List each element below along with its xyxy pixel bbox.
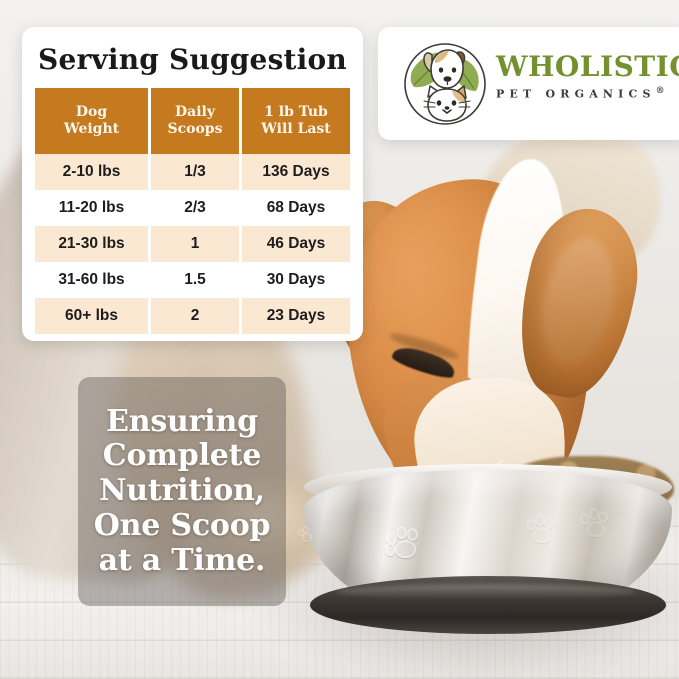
table-header-row: Dog Weight Daily Scoops 1 lb Tub Will La…: [35, 88, 350, 154]
cell-tub-will-last: 68 Days: [242, 190, 350, 226]
cell-dog-weight: 31-60 lbs: [35, 262, 148, 298]
serving-suggestion-card: Serving Suggestion Dog Weight Daily Scoo…: [22, 27, 363, 341]
brand-subtitle: PET ORGANICS®: [496, 86, 676, 101]
cell-daily-scoops: 2: [151, 298, 239, 334]
dog-cat-circle-leaves-icon: [402, 41, 488, 127]
column-header-tub-will-last: 1 lb Tub Will Last: [242, 88, 350, 154]
table-row: 2-10 lbs 1/3 136 Days: [35, 154, 350, 190]
paw-print-icon: [578, 508, 608, 538]
brand-wordmark-text: WHOLISTIC: [496, 50, 679, 83]
brand-subtitle-text: PET ORGANICS: [496, 88, 656, 101]
cell-tub-will-last: 30 Days: [242, 262, 350, 298]
cell-dog-weight: 2-10 lbs: [35, 154, 148, 190]
cell-dog-weight: 11-20 lbs: [35, 190, 148, 226]
cell-tub-will-last: 46 Days: [242, 226, 350, 262]
bowl-base-highlight: [336, 584, 636, 600]
cell-dog-weight: 21-30 lbs: [35, 226, 148, 262]
screenshot-canvas: Serving Suggestion Dog Weight Daily Scoo…: [0, 0, 679, 679]
header-line: Dog: [76, 104, 107, 120]
header-line: Will Last: [261, 121, 331, 137]
paw-print-icon: [524, 514, 554, 544]
cell-daily-scoops: 2/3: [151, 190, 239, 226]
column-header-dog-weight: Dog Weight: [35, 88, 148, 154]
cell-daily-scoops: 1/3: [151, 154, 239, 190]
table-row: 21-30 lbs 1 46 Days: [35, 226, 350, 262]
serving-suggestion-table: Dog Weight Daily Scoops 1 lb Tub Will La…: [32, 88, 353, 334]
brand-wordmark: WHOLISTIC: [496, 53, 676, 81]
cell-daily-scoops: 1.5: [151, 262, 239, 298]
registered-trademark-icon: ®: [656, 86, 665, 96]
cell-tub-will-last: 136 Days: [242, 154, 350, 190]
table-row: 60+ lbs 2 23 Days: [35, 298, 350, 334]
tagline-text: Ensuring Complete Nutrition, One Scoop a…: [88, 405, 277, 579]
page-title: Serving Suggestion: [22, 43, 363, 76]
header-line: Scoops: [168, 121, 223, 137]
header-line: Weight: [64, 121, 119, 137]
header-line: 1 lb Tub: [264, 104, 328, 120]
paw-print-icon: [296, 526, 309, 539]
tagline-overlay-panel: Ensuring Complete Nutrition, One Scoop a…: [78, 377, 286, 606]
cell-daily-scoops: 1: [151, 226, 239, 262]
brand-wordmark-group: WHOLISTIC PET ORGANICS®: [496, 53, 676, 101]
header-line: Daily: [175, 104, 215, 120]
table-row: 31-60 lbs 1.5 30 Days: [35, 262, 350, 298]
paw-print-icon: [384, 526, 424, 566]
table-row: 11-20 lbs 2/3 68 Days: [35, 190, 350, 226]
cell-tub-will-last: 23 Days: [242, 298, 350, 334]
column-header-daily-scoops: Daily Scoops: [151, 88, 239, 154]
cell-dog-weight: 60+ lbs: [35, 298, 148, 334]
pet-food-bowl: [296, 456, 679, 646]
brand-logo-card: WHOLISTIC PET ORGANICS®: [378, 27, 679, 140]
